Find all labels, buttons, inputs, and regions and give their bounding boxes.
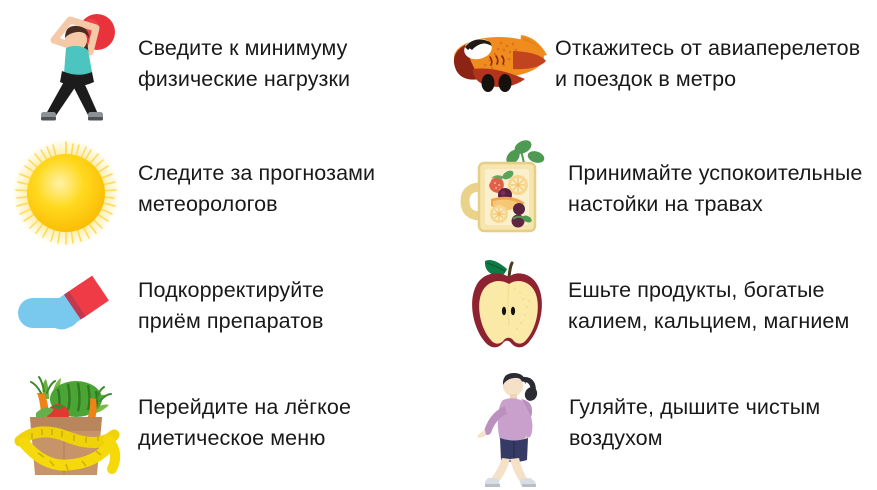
grocery-bag-with-tape-measure-icon: [6, 366, 126, 484]
tip-walk-and-breathe-fresh-air: Гуляйте, дышите чистым воздухом: [437, 362, 877, 484]
tip-avoid-air-travel-and-metro: Откажитесь от авиаперелетов и поездок в …: [437, 0, 877, 128]
tip-take-herbal-sedatives: Принимайте успокоительные настойки на тр…: [437, 128, 877, 250]
airplane-icon: [443, 1, 555, 119]
sun-icon: [6, 134, 126, 252]
tip-adjust-medication: Подкорректируйте приём препаратов: [0, 250, 437, 362]
tip-watch-weather-forecasts: Следите за прогнозами метеорологов: [0, 128, 437, 250]
halved-apple-icon: [459, 247, 559, 365]
tip-text: Гуляйте, дышите чистым воздухом: [569, 392, 877, 454]
tip-text: Перейдите на лёгкое диетическое меню: [138, 392, 437, 454]
tip-line-1: Ешьте продукты, богатые: [568, 275, 877, 306]
pills-capsules-icon: [6, 247, 126, 365]
tip-line-1: Сведите к минимуму: [138, 33, 437, 64]
health-tips-infographic: Сведите к минимуму физические нагрузки: [0, 0, 877, 484]
tip-text: Ешьте продукты, богатые калием, кальцием…: [568, 275, 877, 337]
tip-line-2: калием, кальцием, магнием: [568, 306, 877, 337]
tip-line-1: Перейдите на лёгкое: [138, 392, 437, 423]
tip-line-2: физические нагрузки: [138, 64, 437, 95]
walking-woman-icon: [465, 370, 555, 488]
tip-line-1: Следите за прогнозами: [138, 158, 437, 189]
tips-grid: Сведите к минимуму физические нагрузки: [0, 0, 877, 484]
woman-exercising-with-ball-icon: [16, 5, 136, 123]
tip-line-1: Откажитесь от авиаперелетов: [555, 33, 877, 64]
tip-limit-physical-activity: Сведите к минимуму физические нагрузки: [0, 0, 437, 128]
tip-line-1: Гуляйте, дышите чистым: [569, 392, 877, 423]
tip-line-2: и поездок в метро: [555, 64, 877, 95]
tip-text: Сведите к минимуму физические нагрузки: [138, 33, 437, 95]
fruit-tea-mug-icon: [459, 130, 559, 248]
tip-line-2: настойки на травах: [568, 189, 877, 220]
tip-line-2: воздухом: [569, 423, 877, 454]
tip-text: Откажитесь от авиаперелетов и поездок в …: [555, 33, 877, 95]
tip-switch-to-light-diet: Перейдите на лёгкое диетическое меню: [0, 362, 437, 484]
tip-line-2: диетическое меню: [138, 423, 437, 454]
tip-line-1: Подкорректируйте: [138, 275, 437, 306]
tip-text: Следите за прогнозами метеорологов: [138, 158, 437, 220]
tip-eat-potassium-rich-foods: Ешьте продукты, богатые калием, кальцием…: [437, 250, 877, 362]
tip-line-1: Принимайте успокоительные: [568, 158, 877, 189]
tip-line-2: метеорологов: [138, 189, 437, 220]
tip-line-2: приём препаратов: [138, 306, 437, 337]
tip-text: Подкорректируйте приём препаратов: [138, 275, 437, 337]
tip-text: Принимайте успокоительные настойки на тр…: [568, 158, 877, 220]
